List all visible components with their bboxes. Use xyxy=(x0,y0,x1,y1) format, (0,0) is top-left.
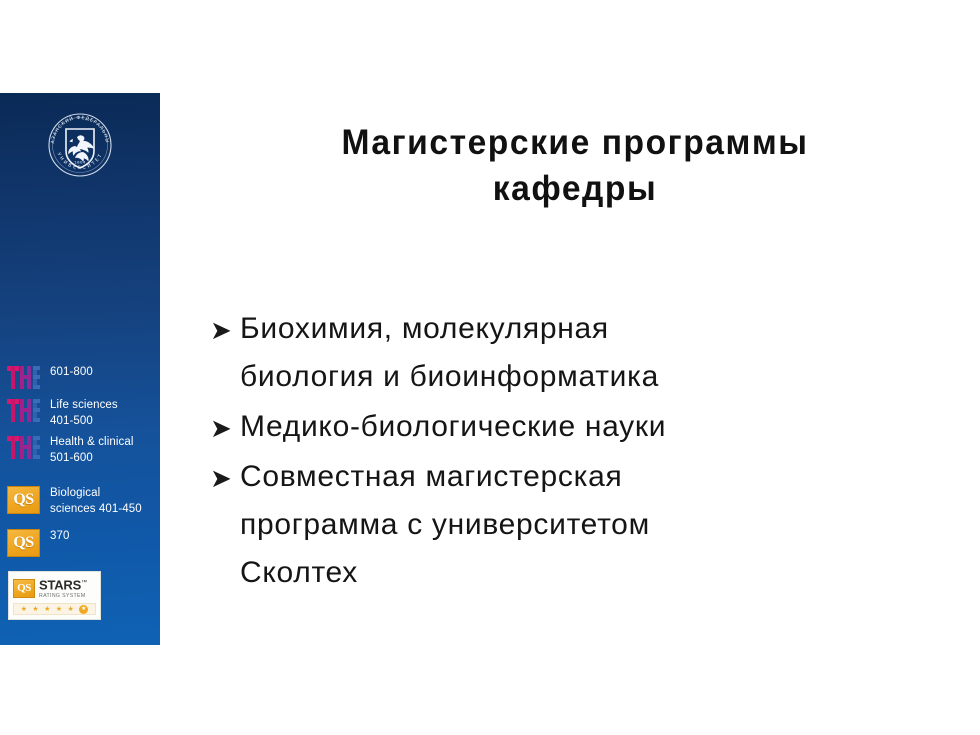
list-item: ➤ Совместная магистерская программа с ун… xyxy=(210,453,900,597)
ranking-line: Life sciences xyxy=(50,398,160,414)
qs-logo-icon: QS xyxy=(7,486,40,514)
the-logo-icon xyxy=(7,398,40,423)
qs-stars-badge: QS STARS™ RATING SYSTEM ★ ★ ★ ★ ★ ★ xyxy=(8,571,101,620)
sidebar: КАЗАНСКИЙ ФЕДЕРАЛЬНЫЙ УНИВЕРСИТЕТ 1804 xyxy=(0,93,160,645)
ranking-text: Life sciences 401-500 xyxy=(40,398,160,429)
page-title-line-1: Магистерские программы xyxy=(341,123,808,162)
program-list: ➤ Биохимия, молекулярная биология и биои… xyxy=(210,305,900,599)
ranking-line: 370 xyxy=(50,529,160,545)
qs-stars-wordmark: STARS™ RATING SYSTEM xyxy=(35,577,87,600)
list-item: ➤ Медико-биологические науки xyxy=(210,403,900,451)
list-item-label: Медико-биологические науки xyxy=(240,403,900,451)
ranking-line: 401-500 xyxy=(50,414,160,430)
list-item-label: Совместная магистерская программа с унив… xyxy=(240,453,900,597)
qs-stars-header: QS STARS™ RATING SYSTEM xyxy=(13,577,96,600)
slide-content: Магистерские программыкафедры ➤ Биохимия… xyxy=(190,120,960,212)
page-title-line-2: кафедры xyxy=(493,169,657,208)
the-logo-icon xyxy=(7,435,40,460)
qs-logo-icon: QS xyxy=(7,529,40,557)
star-icon-highlighted: ★ xyxy=(79,605,88,614)
ranking-row-the-health-clinical: Health & clinical 501-600 xyxy=(7,435,160,466)
star-icon: ★ xyxy=(56,606,62,613)
star-icon: ★ xyxy=(44,606,50,613)
qs-stars-title-text: STARS xyxy=(39,577,81,592)
star-icon: ★ xyxy=(32,606,38,613)
svg-text:КАЗАНСКИЙ ФЕДЕРАЛЬНЫЙ: КАЗАНСКИЙ ФЕДЕРАЛЬНЫЙ xyxy=(44,105,110,144)
ranking-row-qs-biological-sciences: QS Biological sciences 401-450 xyxy=(7,486,160,517)
qs-stars-subtitle: RATING SYSTEM xyxy=(39,592,87,600)
ranking-line: 501-600 xyxy=(50,451,160,467)
svg-text:1804: 1804 xyxy=(74,159,86,164)
ranking-line: Biological xyxy=(50,486,160,502)
list-item: ➤ Биохимия, молекулярная биология и биои… xyxy=(210,305,900,401)
arrow-bullet-icon: ➤ xyxy=(210,454,240,502)
ranking-text: 370 xyxy=(40,529,160,545)
ranking-text: Biological sciences 401-450 xyxy=(40,486,160,517)
arrow-bullet-icon: ➤ xyxy=(210,404,240,452)
qs-mark-icon: QS xyxy=(13,579,35,598)
the-logo-icon xyxy=(7,365,40,390)
qs-stars-rating-bar: ★ ★ ★ ★ ★ ★ xyxy=(13,603,96,615)
star-icon: ★ xyxy=(21,606,27,613)
qs-stars-title: STARS™ xyxy=(39,577,87,591)
rankings-list: 601-800 Life sciences 401-500 xyxy=(7,365,160,620)
page-title: Магистерские программыкафедры xyxy=(249,120,902,212)
trademark-symbol: ™ xyxy=(81,580,87,586)
ranking-row-the-overall: 601-800 xyxy=(7,365,160,390)
ranking-text: Health & clinical 501-600 xyxy=(40,435,160,466)
star-icon: ★ xyxy=(68,606,74,613)
ranking-line: Health & clinical xyxy=(50,435,160,451)
ranking-row-the-life-sciences: Life sciences 401-500 xyxy=(7,398,160,429)
ranking-line: 601-800 xyxy=(50,365,160,381)
slide-canvas: КАЗАНСКИЙ ФЕДЕРАЛЬНЫЙ УНИВЕРСИТЕТ 1804 xyxy=(0,0,980,735)
ranking-line: sciences 401-450 xyxy=(50,502,160,518)
kazan-federal-university-emblem: КАЗАНСКИЙ ФЕДЕРАЛЬНЫЙ УНИВЕРСИТЕТ 1804 xyxy=(44,105,116,185)
arrow-bullet-icon: ➤ xyxy=(210,306,240,354)
ranking-row-qs-overall: QS 370 xyxy=(7,529,160,557)
ranking-text: 601-800 xyxy=(40,365,160,381)
list-item-label: Биохимия, молекулярная биология и биоинф… xyxy=(240,305,900,401)
